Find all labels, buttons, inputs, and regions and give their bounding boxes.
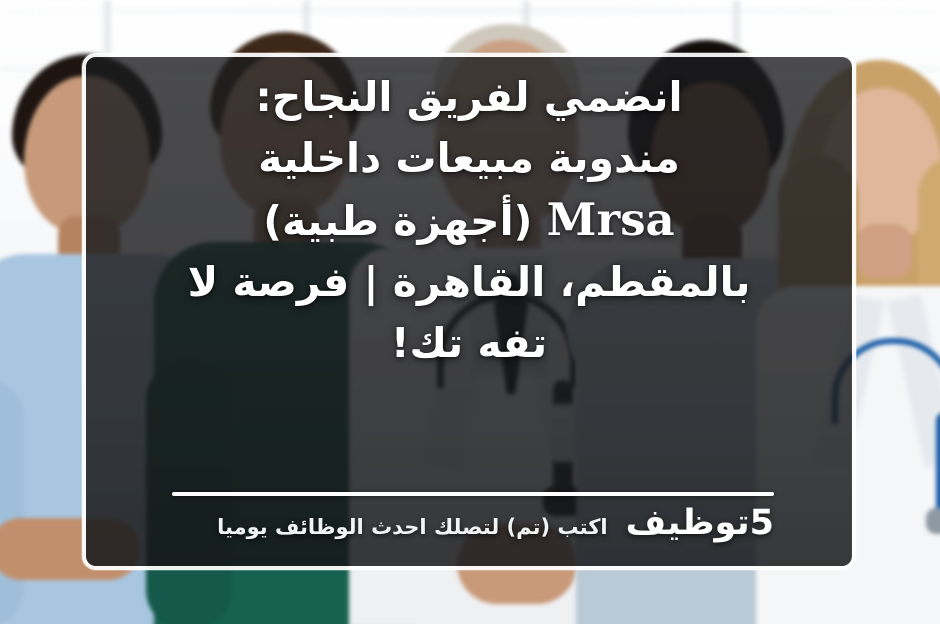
separator-rule: [172, 492, 774, 496]
brand-row: 5توظيف اكتب (تم) لتصلك احدث الوظائف يومي…: [172, 503, 774, 544]
logo-number: 5: [750, 503, 774, 543]
headline-line-2: مندوبة مبيعات داخلية: [108, 128, 830, 189]
banner-stage: انضمي لفريق النجاح: مندوبة مبيعات داخلية…: [0, 0, 940, 624]
brand-word: Mrsa: [547, 193, 675, 246]
headline-line-1: انضمي لفريق النجاح:: [108, 67, 830, 128]
headline-line-3: Mrsa (أجهزة طبية): [108, 189, 830, 252]
footer-brand-bar: 5توظيف اكتب (تم) لتصلك احدث الوظائف يومي…: [86, 492, 852, 544]
headline-line-5: تفه تك!: [108, 313, 830, 374]
headline-line-3-text: (أجهزة طبية): [263, 197, 532, 245]
logo-word: توظيف: [626, 503, 750, 543]
headline-line-4: بالمقطم، القاهرة | فرصة لا: [108, 252, 830, 313]
headline-block: انضمي لفريق النجاح: مندوبة مبيعات داخلية…: [86, 67, 852, 374]
site-logo[interactable]: 5توظيف: [626, 503, 774, 543]
footer-tagline: اكتب (تم) لتصلك احدث الوظائف يوميا: [217, 510, 607, 544]
dark-overlay-frame: انضمي لفريق النجاح: مندوبة مبيعات داخلية…: [82, 53, 856, 570]
